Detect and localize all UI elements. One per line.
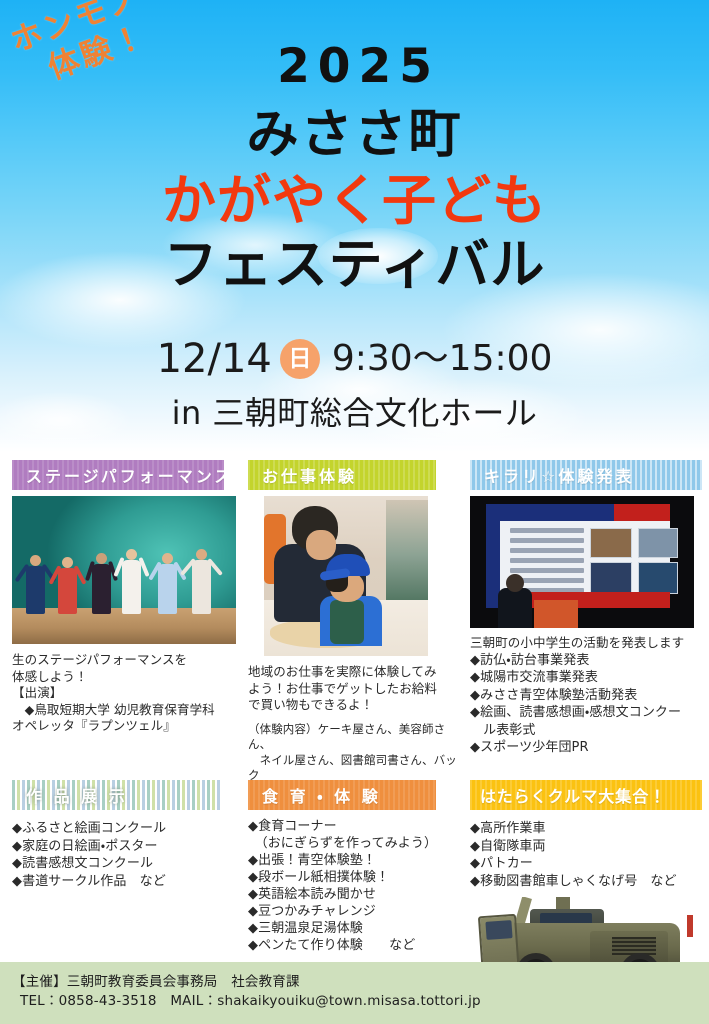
section-heading-exhibit: 作 品 展 示 [12,780,222,810]
content-area: ステージパフォーマンス 生のステージパフォーマンスを 体感しよう！ 【出演】 ◆… [0,452,709,962]
section-stage-performance: ステージパフォーマンス 生のステージパフォーマンスを 体感しよう！ 【出演】 ◆… [12,460,244,735]
list-item: ◆移動図書館車しゃくなげ号 など [470,873,702,891]
vehicle-grille [612,937,656,955]
list-item: ◆食育コーナー [248,818,464,835]
exhibit-item-list: ◆ふるさと絵画コンクール ◆家庭の日絵画・ポスター ◆読書感想文コンクール ◆書… [12,820,244,890]
work-experience-photo [264,496,428,656]
section-exhibit: 作 品 展 示 ◆ふるさと絵画コンクール ◆家庭の日絵画・ポスター ◆読書感想文… [12,780,244,890]
section-presentation: キラリ☆体験発表 三朝町の小中学生の活動を発表します ◆訪仏・訪台事 [470,460,702,757]
section-food-experience: 食 育 ・ 体 験 ◆食育コーナー （おにぎらずを作ってみよう） ◆出張！青空体… [248,780,464,954]
list-item: ◆英語絵本読み聞かせ [248,886,464,903]
title-year: 2025 [0,40,709,94]
title-highlight: かがやく子ども [0,170,709,232]
food-item-list: ◆食育コーナー （おにぎらずを作ってみよう） ◆出張！青空体験塾！ ◆段ボール紙… [248,818,464,954]
list-item: ◆パトカー [470,855,702,873]
section-heading-stage: ステージパフォーマンス [12,460,224,490]
event-datetime: 12/14 日 9:30〜15:00 [0,336,709,382]
list-item: ◆書道サークル作品 など [12,873,244,891]
podium [534,600,578,628]
presentation-item-list: ◆訪仏・訪台事業発表 ◆城陽市交流事業発表 ◆みささ青空体験塾活動発表 ◆絵画、… [470,652,702,757]
event-date: 12/14 [157,336,272,382]
list-item: ◆城陽市交流事業発表 [470,669,702,687]
event-venue: in 三朝町総合文化ホール [0,392,709,434]
section-heading-food: 食 育 ・ 体 験 [248,780,436,810]
performer-figure [192,549,211,614]
section-heading-present: キラリ☆体験発表 [470,460,702,490]
section-heading-cars: はたらくクルマ大集合！ [470,780,702,810]
list-item: ◆家庭の日絵画・ポスター [12,838,244,856]
list-item: ◆三朝温泉足湯体験 [248,920,464,937]
list-item: ◆ペンたて作り体験 など [248,937,464,954]
section-working-vehicles: はたらくクルマ大集合！ ◆高所作業車 ◆自衛隊車両 ◆パトカー ◆移動図書館車し… [470,780,702,890]
slide-image [638,528,678,558]
list-item: ◆絵画、読書感想画・感想文コンクー ル表彰式 [470,704,702,739]
adult-face [306,530,336,560]
event-time: 9:30〜15:00 [332,336,553,382]
performer-figure [58,557,77,614]
performer-figure [122,549,141,614]
footer-contact: 【主催】三朝町教育委員会事務局 社会教育課 TEL：0858-43-3518 M… [0,962,709,1024]
performer-figure [92,553,111,614]
list-item: ◆出張！青空体験塾！ [248,852,464,869]
event-poster: ホンモノ 体験！ 2025 みささ町 かがやく子ども フェスティバル 12/14… [0,0,709,1024]
poster-title: 2025 みささ町 かがやく子ども フェスティバル [0,40,709,296]
vehicle-flag [687,915,693,937]
footer-contact-line: TEL：0858-43-3518 MAIL：shakaikyouiku@town… [12,992,481,1011]
day-of-week-badge: 日 [280,339,320,379]
list-item: ◆高所作業車 [470,820,702,838]
list-item: ◆訪仏・訪台事業発表 [470,652,702,670]
footer-organizer: 【主催】三朝町教育委員会事務局 社会教育課 [12,973,300,992]
title-festival: フェスティバル [0,234,709,296]
title-town: みささ町 [0,102,709,168]
stage-description: 生のステージパフォーマンスを 体感しよう！ 【出演】 ◆鳥取短期大学 幼児教育保… [12,652,244,735]
vehicle-door-window [485,920,512,940]
slide-image [638,562,678,594]
stage-performance-photo [12,496,236,644]
list-item: ◆みささ青空体験塾活動発表 [470,687,702,705]
section-heading-work: お仕事体験 [248,460,436,490]
slide-image [590,562,632,594]
list-item: ◆段ボール紙相撲体験！ [248,869,464,886]
list-item: ◆豆つかみチャレンジ [248,903,464,920]
list-item: ◆スポーツ少年団PR [470,739,702,757]
list-item: ◆自衛隊車両 [470,838,702,856]
slide-header [500,504,670,521]
speaker-head [506,574,524,592]
section-work-experience: お仕事体験 地域のお仕事を実際に体験してみ よう！お仕事でゲットしたお給料 で買… [248,460,464,799]
speaker-body [498,588,532,628]
cars-item-list: ◆高所作業車 ◆自衛隊車両 ◆パトカー ◆移動図書館車しゃくなげ号 など [470,820,702,890]
presentation-intro: 三朝町の小中学生の活動を発表します [470,635,702,652]
work-description: 地域のお仕事を実際に体験してみ よう！お仕事でゲットしたお給料 で買い物もできる… [248,664,464,714]
list-item: （おにぎらずを作ってみよう） [248,835,464,852]
list-item: ◆ふるさと絵画コンクール [12,820,244,838]
performer-figure [158,553,177,614]
student-presentation-photo [470,496,694,628]
child-apron [330,600,364,644]
performer-figure [26,555,45,614]
list-item: ◆読書感想文コンクール [12,855,244,873]
slide-image [590,528,632,558]
